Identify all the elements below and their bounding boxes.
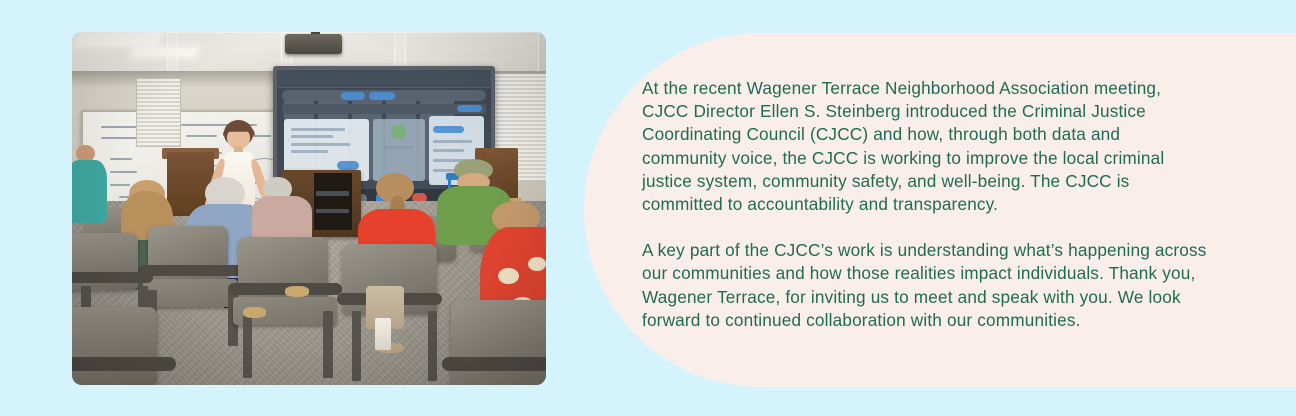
paragraph-2: A key part of the CJCC’s work is underst… — [642, 239, 1208, 332]
chair-armrest — [442, 357, 546, 371]
whiteboard-mark — [110, 158, 132, 160]
page-canvas: At the recent Wagener Terrace Neighborho… — [0, 0, 1296, 416]
chair-leg — [352, 311, 361, 382]
screen-text-line — [291, 150, 329, 153]
browser-bookmarks-bar — [282, 104, 487, 114]
ceiling-light — [132, 48, 197, 56]
browser-tab-strip — [277, 70, 490, 89]
window-blinds — [136, 78, 181, 147]
screen-text-line — [384, 146, 415, 149]
projector — [285, 34, 342, 53]
chair-armrest — [138, 265, 242, 276]
attendee — [72, 145, 110, 223]
screen-button — [457, 105, 483, 112]
tumbler — [375, 318, 391, 350]
whiteboard-mark — [110, 171, 137, 173]
screen-text-line — [291, 143, 351, 146]
meeting-photo — [72, 32, 546, 385]
text-card-content: At the recent Wagener Terrace Neighborho… — [642, 77, 1208, 332]
chair — [148, 226, 229, 286]
screen-text-line — [291, 128, 346, 131]
ceiling-light — [74, 34, 160, 45]
chair-leg — [323, 311, 332, 378]
av-equipment — [316, 191, 349, 196]
chair-armrest — [72, 357, 176, 371]
screen-button — [337, 161, 359, 170]
chair-leg — [243, 311, 252, 378]
screen-panel-center — [373, 119, 424, 181]
attendee-torso — [72, 160, 107, 222]
chair — [72, 307, 157, 385]
photo-scene — [72, 32, 546, 385]
chair-leg — [428, 311, 437, 382]
screen-avatar — [391, 125, 406, 139]
chair — [451, 300, 546, 385]
chair-seat — [143, 279, 238, 307]
paragraph-1: At the recent Wagener Terrace Neighborho… — [642, 77, 1208, 216]
text-card: At the recent Wagener Terrace Neighborho… — [584, 33, 1296, 387]
chair-armrest — [72, 272, 153, 283]
dress-floral-motif — [498, 268, 519, 285]
screen-text-line — [433, 149, 464, 152]
screen-text-line — [433, 140, 472, 143]
screen-text-line — [291, 135, 334, 138]
shoe — [243, 307, 267, 318]
screen-button — [341, 92, 364, 100]
attendee-head — [76, 145, 96, 162]
screen-button — [433, 126, 464, 133]
shoe — [285, 286, 309, 297]
dress-floral-motif — [528, 257, 546, 272]
screen-button — [369, 92, 395, 100]
